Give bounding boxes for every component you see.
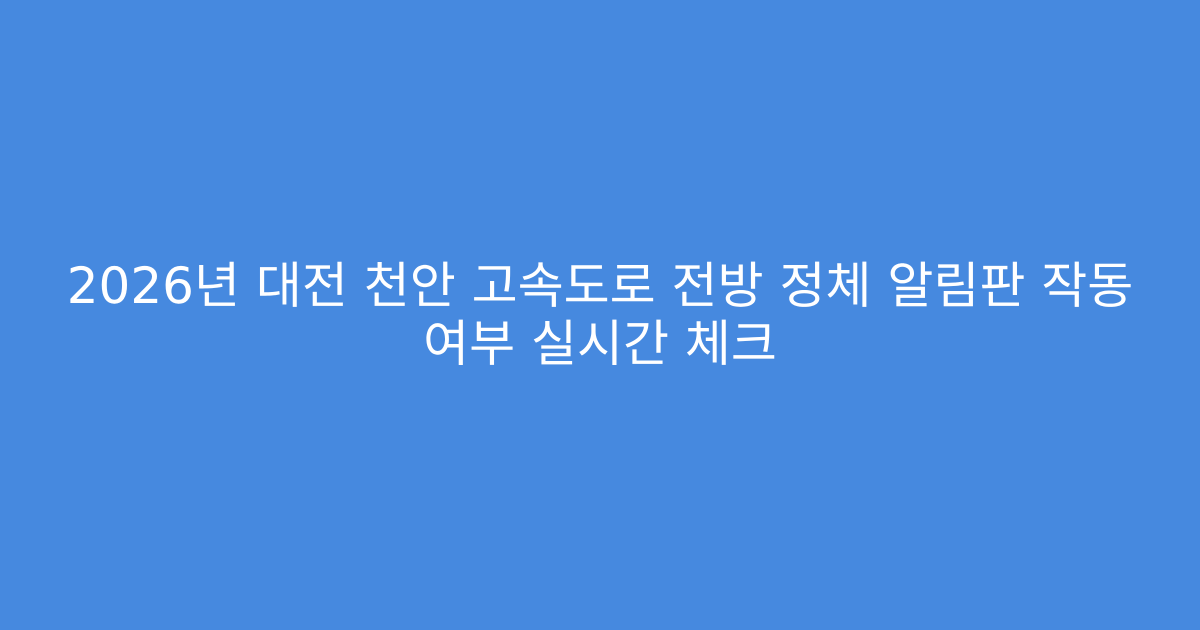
- og-share-card: 2026년 대전 천안 고속도로 전방 정체 알림판 작동 여부 실시간 체크: [0, 0, 1200, 630]
- title-block: 2026년 대전 천안 고속도로 전방 정체 알림판 작동 여부 실시간 체크: [60, 257, 1140, 373]
- page-title: 2026년 대전 천안 고속도로 전방 정체 알림판 작동 여부 실시간 체크: [60, 257, 1140, 373]
